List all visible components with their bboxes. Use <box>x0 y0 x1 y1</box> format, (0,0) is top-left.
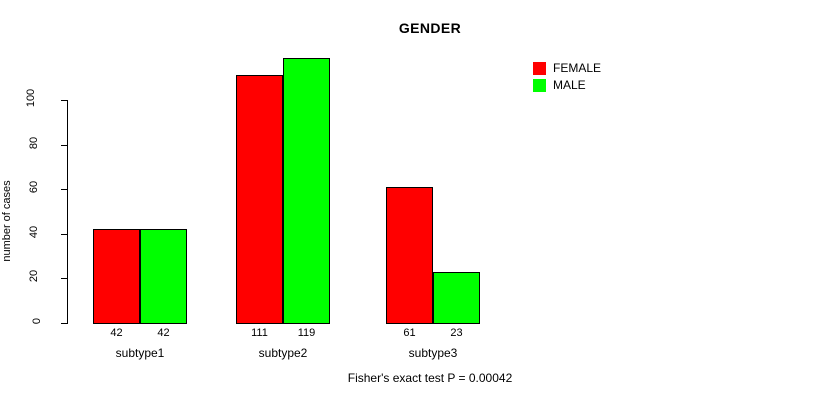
bar <box>140 229 187 324</box>
bar <box>283 58 330 324</box>
legend-swatch-icon <box>533 62 546 75</box>
bar-value-label: 42 <box>93 327 140 339</box>
bar-value-label: 23 <box>433 327 480 339</box>
bar <box>236 75 283 324</box>
category-label: subtype1 <box>93 346 187 360</box>
y-tick-mark <box>61 234 67 235</box>
y-axis-line <box>67 100 68 324</box>
y-tick-label: 0 <box>0 315 40 327</box>
y-tick-mark <box>61 189 67 190</box>
y-tick-mark <box>61 145 67 146</box>
plot-area: 020406080100 number of cases 42421111196… <box>0 0 520 400</box>
y-axis-title: number of cases <box>1 161 13 281</box>
legend-item: FEMALE <box>533 60 601 76</box>
y-tick-label: 80 <box>0 137 40 149</box>
category-label: subtype2 <box>236 346 330 360</box>
bar <box>386 187 433 324</box>
y-tick-mark <box>61 278 67 279</box>
y-tick-mark <box>61 323 67 324</box>
bar-value-label: 61 <box>386 327 433 339</box>
bar <box>93 229 140 324</box>
bar-value-label: 111 <box>236 327 283 339</box>
bar-value-label: 119 <box>283 327 330 339</box>
legend-label: MALE <box>553 79 586 92</box>
bar-value-label: 42 <box>140 327 187 339</box>
legend-label: FEMALE <box>553 62 601 75</box>
category-label: subtype3 <box>386 346 480 360</box>
legend: FEMALEMALE <box>533 60 601 94</box>
chart-caption: Fisher's exact test P = 0.00042 <box>0 371 840 385</box>
y-tick-mark <box>61 100 67 101</box>
legend-swatch-icon <box>533 79 546 92</box>
chart-screenshot: GENDER 020406080100 number of cases 4242… <box>0 0 840 400</box>
bar <box>433 272 480 324</box>
legend-item: MALE <box>533 77 601 93</box>
y-tick-label: 100 <box>0 92 40 104</box>
